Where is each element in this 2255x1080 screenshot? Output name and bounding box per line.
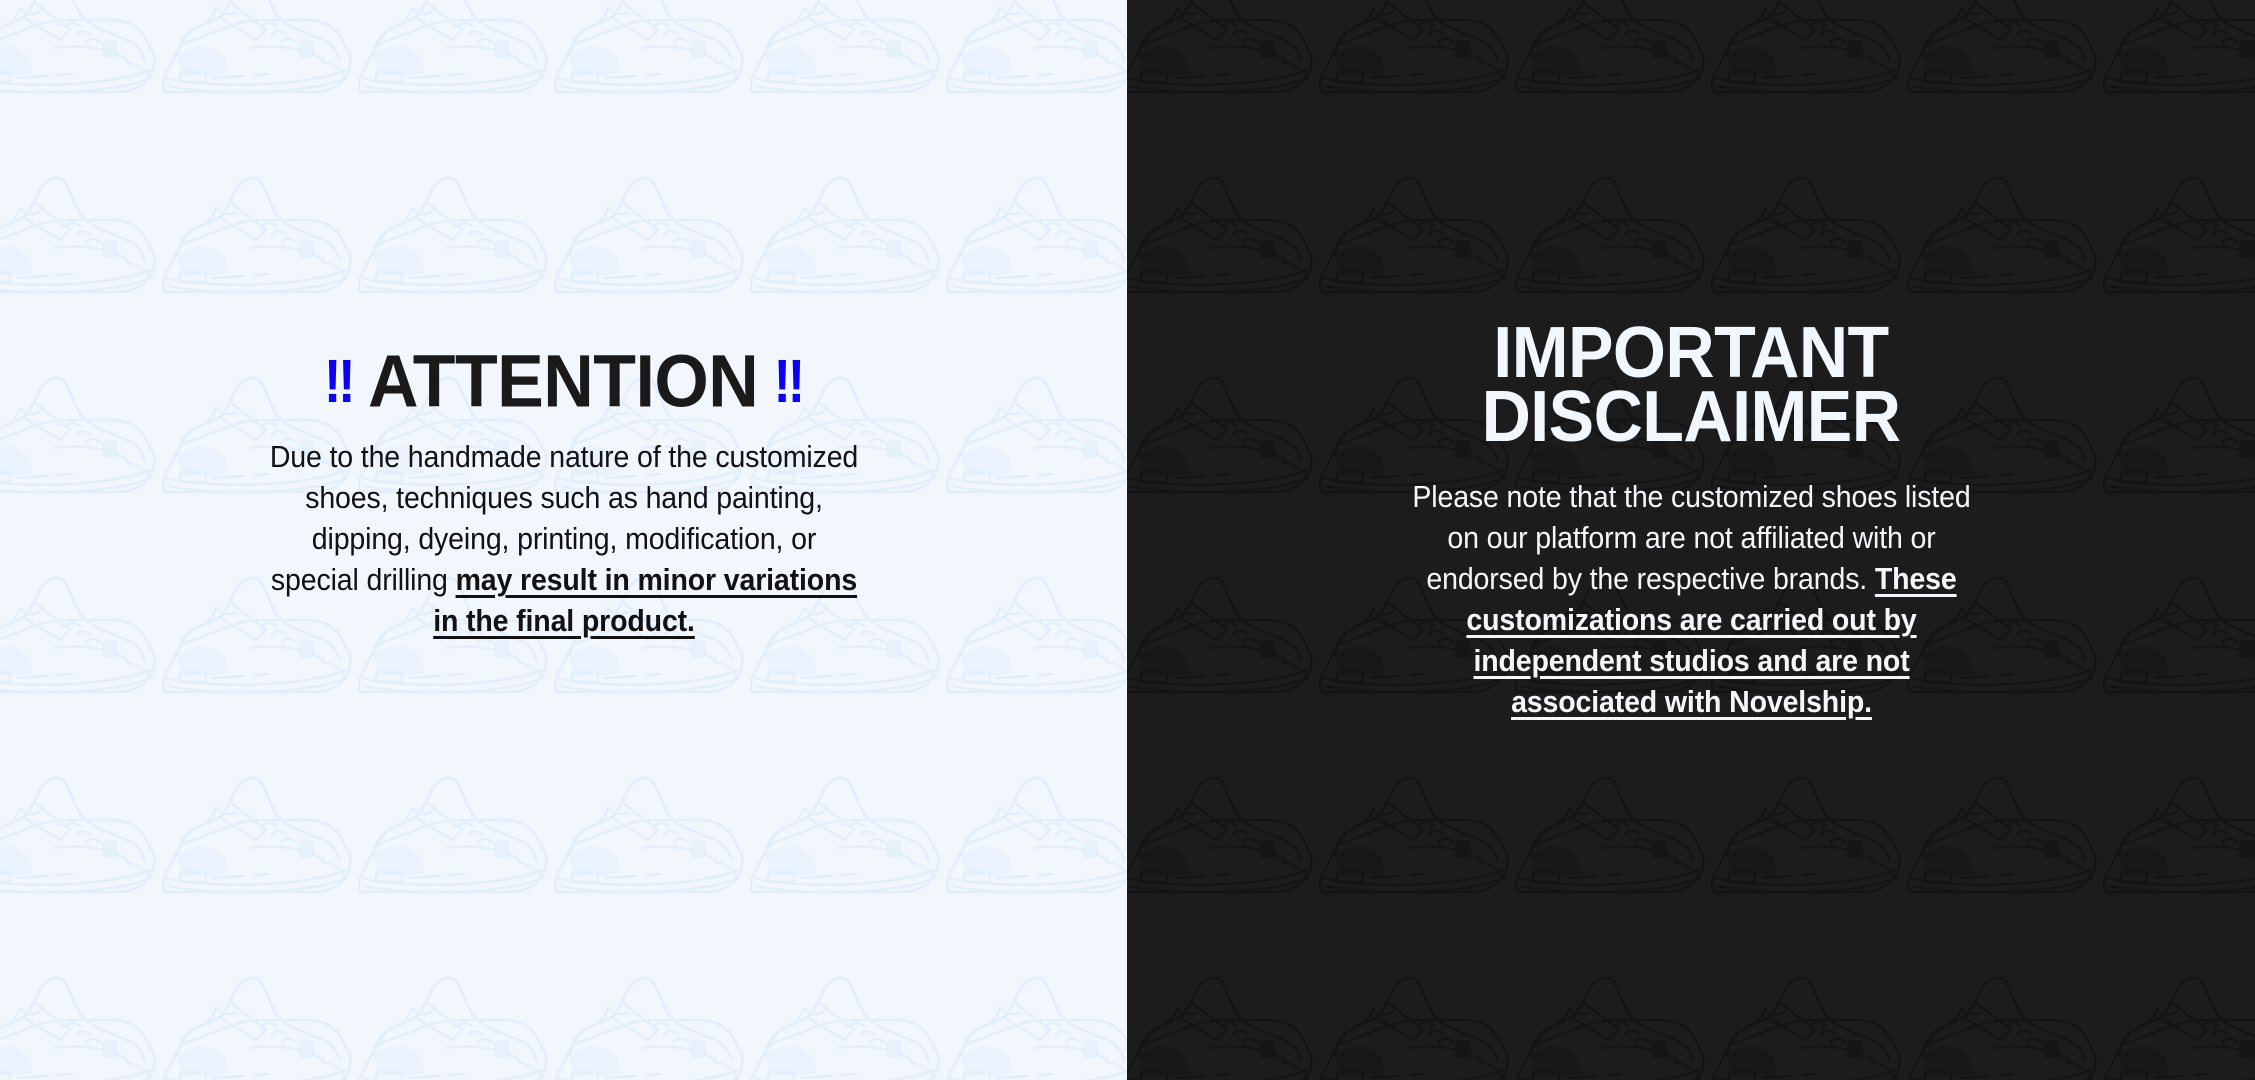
attention-body: Due to the handmade nature of the custom… xyxy=(264,437,862,642)
double-exclamation-icon-left: ‼ xyxy=(324,351,353,412)
attention-heading: ‼ ATTENTION ‼ xyxy=(40,348,1087,415)
double-exclamation-icon-right: ‼ xyxy=(774,351,803,412)
disclaimer-heading: IMPORTANT DISCLAIMER xyxy=(1167,322,2215,451)
disclaimer-panel: IMPORTANT DISCLAIMER Please note that th… xyxy=(1127,0,2255,1080)
attention-content: ‼ ATTENTION ‼ Due to the handmade nature… xyxy=(0,348,1127,642)
disclaimer-content: IMPORTANT DISCLAIMER Please note that th… xyxy=(1127,322,2255,723)
attention-panel: ‼ ATTENTION ‼ Due to the handmade nature… xyxy=(0,0,1127,1080)
attention-heading-word: ATTENTION xyxy=(368,344,758,419)
attention-body-emphasis: may result in minor variations in the fi… xyxy=(433,563,857,638)
disclaimer-body: Please note that the customized shoes li… xyxy=(1399,477,1983,723)
split-banner: ‼ ATTENTION ‼ Due to the handmade nature… xyxy=(0,0,2255,1080)
disclaimer-heading-line2: DISCLAIMER xyxy=(1127,381,2255,456)
